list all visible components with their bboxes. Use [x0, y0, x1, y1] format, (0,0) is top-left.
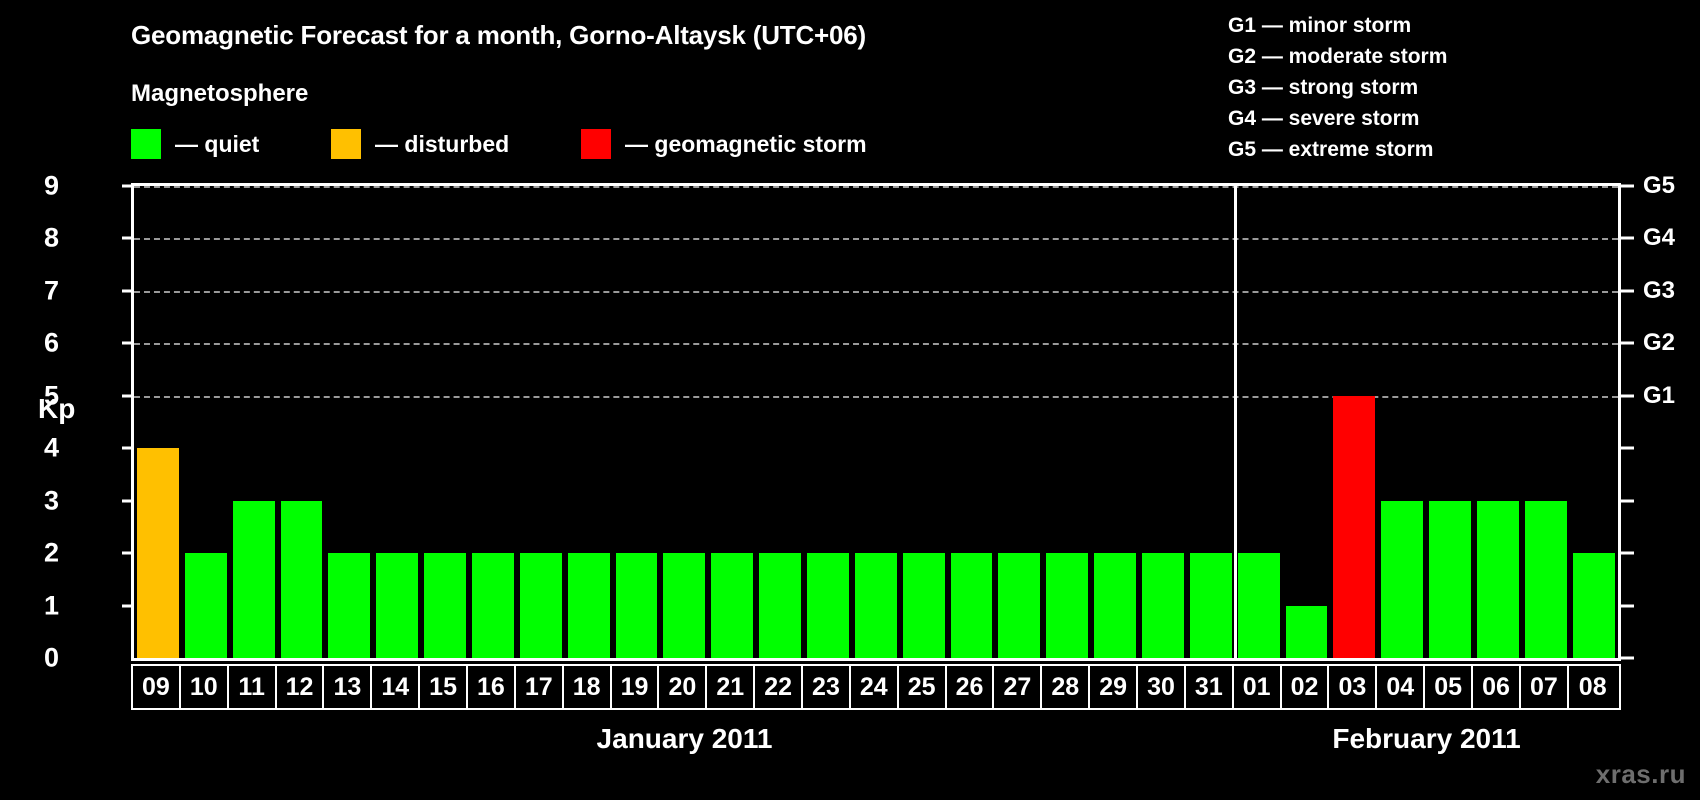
y-axis-tick-label: 3 [19, 485, 59, 516]
month-separator-line [1234, 186, 1237, 658]
bar-slot[interactable] [1522, 186, 1570, 658]
day-label-cell[interactable]: 17 [516, 666, 564, 708]
magnetosphere-legend-item: — disturbed [331, 128, 509, 160]
day-label-cell[interactable]: 13 [324, 666, 372, 708]
g-scale-legend-row: G5 — extreme storm [1228, 134, 1447, 165]
day-label-cell[interactable]: 06 [1473, 666, 1521, 708]
bar-slot[interactable] [708, 186, 756, 658]
month-caption: January 2011 [597, 723, 773, 755]
page-title: Geomagnetic Forecast for a month, Gorno-… [131, 20, 866, 51]
g-axis-tick-mark [1621, 185, 1634, 188]
bar-slot[interactable] [1330, 186, 1378, 658]
bar-slot[interactable] [469, 186, 517, 658]
y-axis-tick-label: 5 [19, 380, 59, 411]
g-axis-tick-label: G4 [1643, 224, 1675, 252]
bar-slot[interactable] [565, 186, 613, 658]
y-axis-tick-label: 1 [19, 590, 59, 621]
magnetosphere-legend-item: — quiet [131, 128, 259, 160]
bar[interactable] [1190, 553, 1232, 658]
bar-slot[interactable] [1570, 186, 1618, 658]
day-label-cell[interactable]: 15 [420, 666, 468, 708]
watermark: xras.ru [1596, 759, 1686, 790]
day-label-cell[interactable]: 09 [133, 666, 181, 708]
bar[interactable] [1046, 553, 1088, 658]
bar[interactable] [281, 501, 323, 658]
chart-root: Geomagnetic Forecast for a month, Gorno-… [0, 0, 1700, 800]
bar[interactable] [616, 553, 658, 658]
bar[interactable] [1286, 606, 1328, 658]
legend-color-swatch [581, 129, 611, 159]
day-label-cell[interactable]: 29 [1090, 666, 1138, 708]
day-label-cell[interactable]: 30 [1138, 666, 1186, 708]
bar-slot[interactable] [182, 186, 230, 658]
day-label-cell[interactable]: 22 [755, 666, 803, 708]
y-axis-tick-label: 2 [19, 538, 59, 569]
bar-slot[interactable] [517, 186, 565, 658]
bar[interactable] [711, 553, 753, 658]
day-label-cell[interactable]: 07 [1521, 666, 1569, 708]
g-axis-minor-tick-mark [1621, 552, 1634, 555]
bar-slot[interactable] [1187, 186, 1235, 658]
day-label-cell[interactable]: 25 [899, 666, 947, 708]
g-axis-minor-tick-mark [1621, 657, 1634, 660]
bar[interactable] [998, 553, 1040, 658]
bar[interactable] [1238, 553, 1280, 658]
day-label-cell[interactable]: 20 [659, 666, 707, 708]
bar[interactable] [472, 553, 514, 658]
bar[interactable] [903, 553, 945, 658]
day-label-cell[interactable]: 10 [181, 666, 229, 708]
bar-slot[interactable] [373, 186, 421, 658]
bar-slot[interactable] [325, 186, 373, 658]
day-label-cell[interactable]: 18 [564, 666, 612, 708]
legend-label: — geomagnetic storm [625, 131, 867, 158]
day-label-cell[interactable]: 08 [1569, 666, 1617, 708]
g-axis-tick-label: G5 [1643, 172, 1675, 200]
bar[interactable] [137, 448, 179, 658]
day-label-cell[interactable]: 02 [1282, 666, 1330, 708]
bar[interactable] [1333, 396, 1375, 658]
day-label-cell[interactable]: 31 [1186, 666, 1234, 708]
bar[interactable] [759, 553, 801, 658]
subtitle-magnetosphere: Magnetosphere [131, 80, 308, 108]
plot-area [131, 183, 1621, 661]
g-scale-legend-row: G3 — strong storm [1228, 72, 1447, 103]
bar[interactable] [328, 553, 370, 658]
bar[interactable] [376, 553, 418, 658]
y-axis-tick-label: 6 [19, 328, 59, 359]
day-label-cell[interactable]: 04 [1377, 666, 1425, 708]
g-axis-minor-tick-mark [1621, 447, 1634, 450]
bar[interactable] [1142, 553, 1184, 658]
g-axis-tick-label: G3 [1643, 277, 1675, 305]
bar[interactable] [855, 553, 897, 658]
g-axis-minor-tick-mark [1621, 604, 1634, 607]
g-axis-tick-label: G2 [1643, 329, 1675, 357]
bar-slot[interactable] [421, 186, 469, 658]
bar-slot[interactable] [900, 186, 948, 658]
bar[interactable] [1381, 501, 1423, 658]
bar-slot[interactable] [1378, 186, 1426, 658]
legend-label: — disturbed [375, 131, 509, 158]
y-axis-tick-label: 8 [19, 223, 59, 254]
legend-label: — quiet [175, 131, 259, 158]
bar-slot[interactable] [852, 186, 900, 658]
bar[interactable] [951, 553, 993, 658]
legend-color-swatch [331, 129, 361, 159]
g-axis-tick-mark [1621, 394, 1634, 397]
bar-slot[interactable] [1283, 186, 1331, 658]
y-axis-tick-label: 0 [19, 643, 59, 674]
day-label-cell[interactable]: 05 [1425, 666, 1473, 708]
y-axis-tick-label: 9 [19, 171, 59, 202]
day-label-cell[interactable]: 26 [947, 666, 995, 708]
bar-slot[interactable] [804, 186, 852, 658]
bar[interactable] [568, 553, 610, 658]
g-scale-legend-row: G2 — moderate storm [1228, 41, 1447, 72]
bar[interactable] [1573, 553, 1615, 658]
month-caption: February 2011 [1332, 723, 1520, 755]
bar[interactable] [1525, 501, 1567, 658]
day-label-cell[interactable]: 27 [994, 666, 1042, 708]
bar[interactable] [1094, 553, 1136, 658]
y-axis-tick-label: 4 [19, 433, 59, 464]
bar[interactable] [520, 553, 562, 658]
day-label-cell[interactable]: 11 [229, 666, 277, 708]
bar-slot[interactable] [613, 186, 661, 658]
bar-slot[interactable] [1043, 186, 1091, 658]
g-axis-minor-tick-mark [1621, 499, 1634, 502]
g-axis-tick-label: G1 [1643, 382, 1675, 410]
bar-slot[interactable] [660, 186, 708, 658]
legend-color-swatch [131, 129, 161, 159]
g-scale-legend-row: G1 — minor storm [1228, 10, 1447, 41]
bar[interactable] [185, 553, 227, 658]
bar-slot[interactable] [948, 186, 996, 658]
bar-slot[interactable] [1091, 186, 1139, 658]
g-axis-tick-mark [1621, 289, 1634, 292]
bar-slot[interactable] [756, 186, 804, 658]
day-label-cell[interactable]: 21 [707, 666, 755, 708]
day-label-cell[interactable]: 12 [277, 666, 325, 708]
bar[interactable] [1477, 501, 1519, 658]
bar[interactable] [663, 553, 705, 658]
bar-slot[interactable] [1235, 186, 1283, 658]
bar-slot[interactable] [1426, 186, 1474, 658]
bar-slot[interactable] [1139, 186, 1187, 658]
day-label-cell[interactable]: 16 [468, 666, 516, 708]
g-scale-legend-row: G4 — severe storm [1228, 103, 1447, 134]
y-axis-tick-label: 7 [19, 275, 59, 306]
bar-slot[interactable] [995, 186, 1043, 658]
day-label-cell[interactable]: 24 [851, 666, 899, 708]
day-label-cell[interactable]: 19 [612, 666, 660, 708]
day-label-cell[interactable]: 03 [1329, 666, 1377, 708]
g-scale-legend: G1 — minor stormG2 — moderate stormG3 — … [1228, 10, 1447, 165]
bar[interactable] [424, 553, 466, 658]
bar-slot[interactable] [1474, 186, 1522, 658]
day-label-cell[interactable]: 01 [1234, 666, 1282, 708]
magnetosphere-legend-item: — geomagnetic storm [581, 128, 867, 160]
g-axis-tick-mark [1621, 342, 1634, 345]
bar-series [134, 186, 1618, 658]
day-label-cell[interactable]: 23 [803, 666, 851, 708]
day-label-cell[interactable]: 14 [372, 666, 420, 708]
day-label-strip: 0910111213141516171819202122232425262728… [131, 664, 1621, 710]
bar[interactable] [807, 553, 849, 658]
bar-slot[interactable] [230, 186, 278, 658]
bar[interactable] [1429, 501, 1471, 658]
g-axis-tick-mark [1621, 237, 1634, 240]
bar-slot[interactable] [134, 186, 182, 658]
day-label-cell[interactable]: 28 [1042, 666, 1090, 708]
bar-slot[interactable] [278, 186, 326, 658]
bar[interactable] [233, 501, 275, 658]
